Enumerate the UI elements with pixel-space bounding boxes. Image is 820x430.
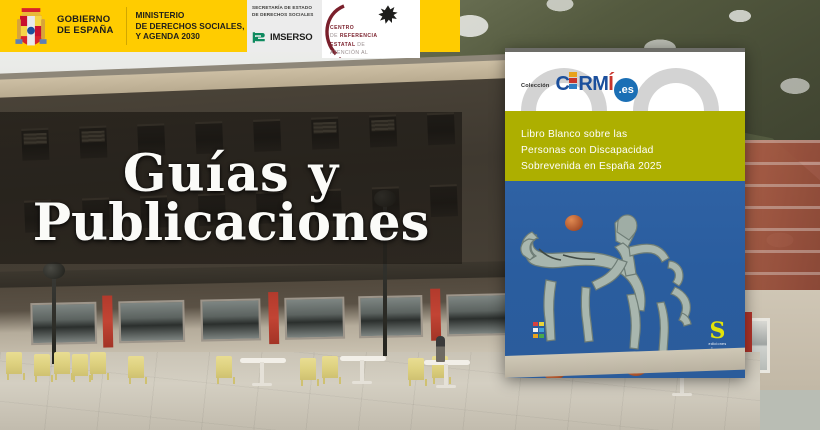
book-title-line-3: Sobrevenida en España 2025 [521,159,745,175]
lamp-head [43,262,65,279]
book-title-band: Libro Blanco sobre las Personas con Disc… [505,111,745,181]
ceadac-line-2: DE REFERENCIA [330,32,381,40]
person-figure [436,336,445,362]
cermi-dots-icon [569,72,578,90]
red-pilaster [102,295,113,347]
page-title-line-1: Guías y [0,150,462,199]
terrace-chair [216,356,232,378]
terrace-chair [34,354,50,376]
state-secretariat-line-1: SECRETARÍA DE ESTADO [252,5,318,12]
terrace-chair [408,358,424,380]
storefront-glass [118,300,185,343]
imserso-label: IMSERSO [270,32,312,43]
cermi-logo: C RM Í .es [556,72,639,99]
promo-banner: GOBIERNO DE ESPAÑA MINISTERIO DE DERECHO… [0,0,820,430]
terrace-chair [72,354,88,376]
cermi-letters-rm: RM [578,73,608,96]
book-cover-photo: S ediciones cinca [505,181,745,378]
terrace-chair [300,358,316,380]
bronze-sphere-small [565,215,583,231]
storefront-glass [200,298,261,341]
ceadac-line-3-light: DE [357,42,365,48]
terrace-chair [90,352,106,374]
government-label: GOBIERNO DE ESPAÑA [57,15,124,36]
ceadac-line-3-strong: ESTATAL [330,42,355,48]
collection-label: Colección [521,83,550,89]
imserso-logo-icon [252,30,267,45]
page-title-line-2: Publicaciones [0,199,462,248]
cermi-letter-c: C [556,73,570,96]
spain-coat-of-arms-icon [12,5,50,47]
terrace-table [424,360,470,365]
ceadac-line-1: CENTRO [330,24,381,32]
decorative-arc-right [633,68,719,111]
red-pilaster [268,292,279,344]
ceadac-line-3: ESTATAL DE [330,41,381,49]
storefront-glass [358,295,423,338]
book-title-line-2: Personas con Discapacidad [521,143,745,159]
ceadac-label: CENTRO DE REFERENCIA ESTATAL DE ATENCIÓN… [330,24,381,58]
collection-row: Colección C RM Í .es [521,72,638,99]
book-cover[interactable]: Colección C RM Í .es Libro Blanco sobre … [505,48,745,378]
red-pilaster [430,289,441,341]
government-line-2: DE ESPAÑA [57,26,114,37]
lamp-post [52,268,56,364]
terrace-chair [6,352,22,374]
state-secretariat-line-2: DE DERECHOS SOCIALES [252,12,318,19]
header-divider [126,7,127,45]
book-header: Colección C RM Í .es [505,52,745,111]
terrace-table [340,356,386,361]
terrace-table [240,358,286,363]
publisher-mark: S [706,322,729,342]
terrace-chair [128,356,144,378]
terrace-chair [322,356,338,378]
ceadac-logo: CENTRO DE REFERENCIA ESTATAL DE ATENCIÓN… [322,0,420,58]
page-title: Guías y Publicaciones [0,150,462,248]
book-title: Libro Blanco sobre las Personas con Disc… [521,127,745,174]
sponsor-mini-logo-icon [533,322,549,340]
book-title-line-1: Libro Blanco sobre las [521,127,745,143]
cermi-es-badge: .es [614,78,638,102]
ceadac-line-2-light: DE [330,33,338,39]
imserso-logo: IMSERSO [252,30,312,45]
ceadac-line-5: DAÑO CEREBRAL [330,57,381,58]
terrace-chair [54,352,70,374]
ceadac-line-2-strong: REFERENCIA [340,33,378,39]
storefront-glass [284,297,345,340]
storefront-glass [30,302,97,345]
ceadac-line-4: ATENCIÓN AL [330,49,381,57]
cermi-letter-i: Í [608,73,613,96]
